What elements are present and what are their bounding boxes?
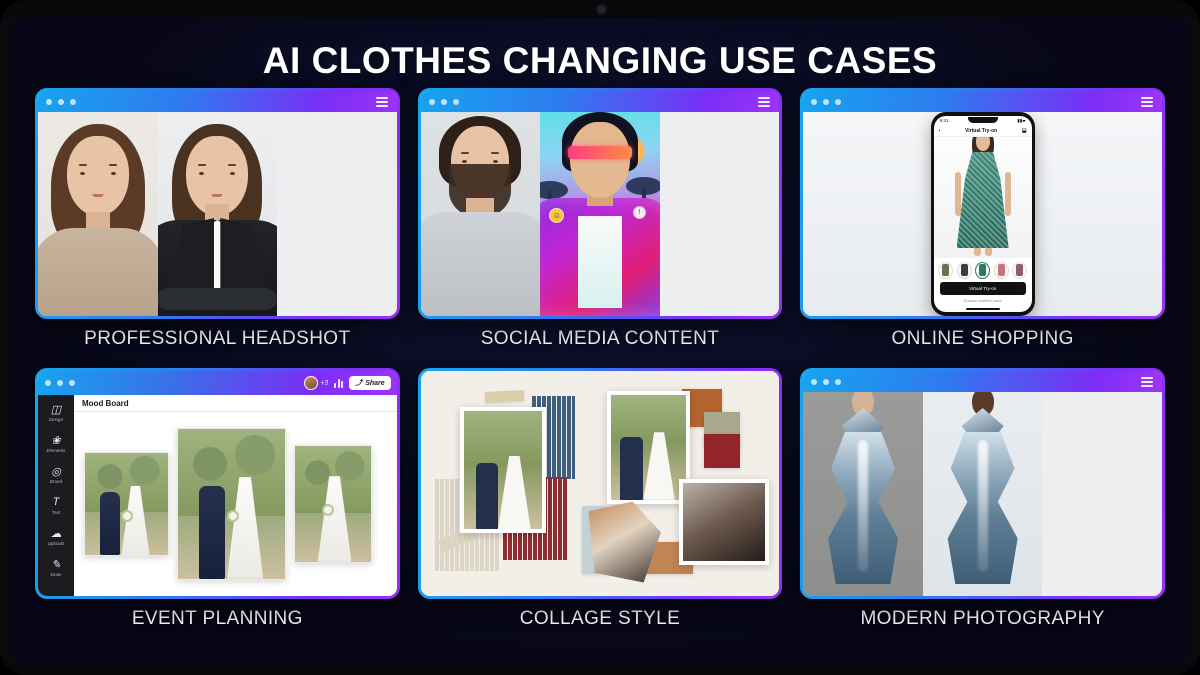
wedding-photo-1[interactable] xyxy=(84,452,169,556)
card-collage-style[interactable] xyxy=(418,368,783,599)
arm-right xyxy=(1005,172,1011,216)
model-wearing-dress xyxy=(955,137,1011,256)
arm-left xyxy=(955,172,961,216)
eye-left xyxy=(462,160,467,163)
status-icons: ▮▮▰ xyxy=(1017,118,1025,124)
card-social-media-content[interactable]: ☺ ! xyxy=(418,88,783,319)
swatch-selector-row[interactable] xyxy=(934,258,1032,282)
person-casual xyxy=(38,116,158,316)
wedding-photo-center[interactable] xyxy=(607,391,689,504)
brow-right xyxy=(228,164,236,166)
window-dot-maximize-icon[interactable] xyxy=(70,99,76,105)
panel-couture-left xyxy=(803,392,923,596)
window-dot-minimize-icon[interactable] xyxy=(58,99,64,105)
use-case-cell-online-shopping: 9:41 ▮▮▰ ‹ Virtual Try-on ⬓ xyxy=(800,88,1165,350)
app-bar: ‹ Virtual Try-on ⬓ xyxy=(934,125,1032,137)
card-modern-photography[interactable] xyxy=(800,368,1165,599)
dress-highlight xyxy=(858,440,868,572)
window-titlebar xyxy=(421,91,780,112)
sweater-shape xyxy=(38,228,158,316)
swatch-olive[interactable] xyxy=(938,262,953,279)
window-dots xyxy=(429,99,459,105)
before-after-split: ☺ ! xyxy=(421,112,780,316)
device-frame: AI CLOTHES CHANGING USE CASES xyxy=(0,0,1200,675)
cta-subtext: Choose another color xyxy=(934,298,1032,306)
screen: AI CLOTHES CHANGING USE CASES xyxy=(10,18,1190,665)
editor-sidebar: ◫ Design ❀ Elements ◎ Brand xyxy=(38,395,74,596)
sidebar-item-text[interactable]: T Text xyxy=(38,495,74,515)
crossed-arms-shape xyxy=(158,288,278,310)
green-patterned-dress xyxy=(957,152,1009,248)
use-case-grid: PROFESSIONAL HEADSHOT xyxy=(35,88,1165,648)
mouth xyxy=(212,194,223,197)
card-inner: 9:41 ▮▮▰ ‹ Virtual Try-on ⬓ xyxy=(803,91,1162,316)
wedding-photo-3[interactable] xyxy=(294,445,373,563)
window-dot-maximize-icon[interactable] xyxy=(835,379,841,385)
sidebar-item-label: Draw xyxy=(51,572,62,577)
card-online-shopping[interactable]: 9:41 ▮▮▰ ‹ Virtual Try-on ⬓ xyxy=(800,88,1165,319)
face-shape xyxy=(67,136,129,216)
sidebar-item-label: Uploads xyxy=(48,541,65,546)
card-body: 9:41 ▮▮▰ ‹ Virtual Try-on ⬓ xyxy=(803,112,1162,316)
photo-strip xyxy=(84,420,387,588)
brow-left xyxy=(198,164,206,166)
card-caption-professional-headshot: PROFESSIONAL HEADSHOT xyxy=(35,328,400,350)
use-case-cell-event-planning: +3 ⤴ Share xyxy=(35,368,400,630)
swatch-mauve[interactable] xyxy=(1012,262,1027,279)
sidebar-item-brand[interactable]: ◎ Brand xyxy=(38,464,74,484)
card-body xyxy=(803,392,1162,596)
card-caption-online-shopping: ONLINE SHOPPING xyxy=(800,328,1165,350)
share-button[interactable]: ⤴ Share xyxy=(349,376,390,390)
tape-piece-top xyxy=(485,390,525,403)
eye-right xyxy=(493,160,498,163)
sidebar-item-uploads[interactable]: ☁ Uploads xyxy=(38,526,74,546)
window-dot-minimize-icon[interactable] xyxy=(441,99,447,105)
phone-mockup: 9:41 ▮▮▰ ‹ Virtual Try-on ⬓ xyxy=(931,112,1035,316)
mouth xyxy=(92,194,103,197)
before-after-split xyxy=(803,392,1162,596)
window-dot-close-icon[interactable] xyxy=(811,99,817,105)
person-plain-tshirt xyxy=(421,112,541,316)
status-time: 9:41 xyxy=(940,118,949,123)
dress-highlight xyxy=(978,440,988,572)
card-inner xyxy=(38,91,397,316)
avatar-count: +3 xyxy=(320,380,328,387)
panel-before-casual-sweater xyxy=(38,112,158,316)
sidebar-item-elements[interactable]: ❀ Elements xyxy=(38,433,74,453)
moodboard-collage xyxy=(421,371,780,596)
wedding-photo-left[interactable] xyxy=(460,407,546,533)
elements-grid-icon: ❀ xyxy=(49,433,63,447)
fabric-drape-photo[interactable] xyxy=(582,502,661,583)
eye-right xyxy=(230,172,235,175)
fabric-swatch-burgundy xyxy=(704,434,740,468)
avatar[interactable] xyxy=(304,376,318,390)
card-body: ☺ ! xyxy=(421,112,780,316)
panel-before-plain-tshirt xyxy=(421,112,541,316)
panel-after-stylized-illustration: ☺ ! xyxy=(540,112,660,316)
hamburger-menu-icon[interactable] xyxy=(758,97,770,107)
wedding-photo-2[interactable] xyxy=(177,428,286,579)
shoes-photo[interactable] xyxy=(679,479,769,565)
eye-right xyxy=(111,172,116,175)
editor-titlebar: +3 ⤴ Share xyxy=(38,371,397,395)
device-bezel-bottom xyxy=(0,665,1200,675)
share-upload-icon: ⤴ xyxy=(355,378,362,388)
card-caption-collage-style: COLLAGE STYLE xyxy=(418,608,783,630)
window-dots xyxy=(811,379,841,385)
window-titlebar xyxy=(38,91,397,112)
swatch-green-selected[interactable] xyxy=(975,262,990,279)
document-title[interactable]: Mood Board xyxy=(74,395,397,412)
share-button-label: Share xyxy=(365,380,384,387)
editor-canvas[interactable] xyxy=(74,412,397,596)
draw-pen-icon: ✎ xyxy=(49,557,63,571)
sidebar-item-label: Text xyxy=(52,510,61,515)
sidebar-item-design[interactable]: ◫ Design xyxy=(38,402,74,422)
card-professional-headshot[interactable] xyxy=(35,88,400,319)
reaction-badge-pin[interactable]: ! xyxy=(633,206,646,219)
before-after-split xyxy=(38,112,397,316)
sidebar-item-label: Brand xyxy=(50,479,62,484)
window-dot-close-icon[interactable] xyxy=(429,99,435,105)
inner-tee-shape xyxy=(578,216,622,308)
sidebar-item-draw[interactable]: ✎ Draw xyxy=(38,557,74,577)
window-titlebar xyxy=(803,371,1162,392)
home-indicator xyxy=(934,306,1032,312)
use-case-cell-collage-style: COLLAGE STYLE xyxy=(418,368,783,630)
window-dot-minimize-icon[interactable] xyxy=(823,99,829,105)
phone-notch xyxy=(968,117,998,123)
model-metallic-dress-left xyxy=(817,392,909,596)
chevron-left-icon[interactable]: ‹ xyxy=(939,128,941,134)
analytics-icon[interactable] xyxy=(334,378,343,388)
sunglasses-icon xyxy=(568,146,632,159)
brand-circle-icon: ◎ xyxy=(49,464,63,478)
card-caption-event-planning: EVENT PLANNING xyxy=(35,608,400,630)
card-inner xyxy=(421,371,780,596)
eye-left xyxy=(80,172,85,175)
sidebar-item-label: Elements xyxy=(46,448,65,453)
window-dot-maximize-icon[interactable] xyxy=(835,99,841,105)
editor-body: ◫ Design ❀ Elements ◎ Brand xyxy=(38,395,397,596)
collaborator-avatars[interactable]: +3 xyxy=(304,376,328,390)
window-dots xyxy=(811,99,841,105)
window-dot-maximize-icon[interactable] xyxy=(69,380,75,386)
virtual-tryon-button[interactable]: Virtual Try-on xyxy=(940,282,1026,295)
app-bar-title: Virtual Try-on xyxy=(965,128,997,134)
card-body xyxy=(38,112,397,316)
card-inner: +3 ⤴ Share xyxy=(38,371,397,596)
swatch-rose[interactable] xyxy=(994,262,1009,279)
card-body xyxy=(421,371,780,596)
camera-dot-icon xyxy=(598,6,605,13)
use-case-cell-professional-headshot: PROFESSIONAL HEADSHOT xyxy=(35,88,400,350)
window-dot-close-icon[interactable] xyxy=(45,380,51,386)
hamburger-menu-icon[interactable] xyxy=(1141,377,1153,387)
card-caption-modern-photography: MODERN PHOTOGRAPHY xyxy=(800,608,1165,630)
hamburger-menu-icon[interactable] xyxy=(1141,97,1153,107)
window-dot-close-icon[interactable] xyxy=(46,99,52,105)
panel-couture-right xyxy=(923,392,1043,596)
card-inner: ☺ ! xyxy=(421,91,780,316)
page-title: AI CLOTHES CHANGING USE CASES xyxy=(10,40,1190,82)
window-dot-maximize-icon[interactable] xyxy=(453,99,459,105)
window-dot-minimize-icon[interactable] xyxy=(823,379,829,385)
window-dots xyxy=(46,99,76,105)
try-on-stage xyxy=(934,137,1032,258)
window-titlebar xyxy=(803,91,1162,112)
tshirt-shape xyxy=(421,212,541,316)
card-caption-social-media-content: SOCIAL MEDIA CONTENT xyxy=(418,328,783,350)
window-dot-minimize-icon[interactable] xyxy=(57,380,63,386)
design-panel-icon: ◫ xyxy=(49,402,63,416)
brow-right xyxy=(109,164,117,166)
shopping-bag-icon[interactable]: ⬓ xyxy=(1022,128,1027,134)
phone-screen: 9:41 ▮▮▰ ‹ Virtual Try-on ⬓ xyxy=(934,116,1032,312)
swatch-charcoal[interactable] xyxy=(957,262,972,279)
eye-left xyxy=(199,172,204,175)
upload-cloud-icon: ☁ xyxy=(49,526,63,540)
editor-canvas-area: Mood Board xyxy=(74,395,397,596)
use-case-cell-modern-photography: MODERN PHOTOGRAPHY xyxy=(800,368,1165,630)
hamburger-menu-icon[interactable] xyxy=(376,97,388,107)
reaction-badge-emoji[interactable]: ☺ xyxy=(549,208,564,223)
use-case-cell-social-media-content: ☺ ! SOCIAL MEDIA CONTENT xyxy=(418,88,783,350)
brow-right xyxy=(491,152,499,154)
window-dots xyxy=(45,380,75,386)
face-shape xyxy=(570,122,630,198)
text-icon: T xyxy=(49,495,63,509)
card-event-planning[interactable]: +3 ⤴ Share xyxy=(35,368,400,599)
brow-left xyxy=(461,152,469,154)
window-dot-close-icon[interactable] xyxy=(811,379,817,385)
editor-toolbar-right: +3 ⤴ Share xyxy=(304,376,390,390)
panel-after-business-suit xyxy=(158,112,278,316)
brow-left xyxy=(79,164,87,166)
person-suited xyxy=(158,116,278,316)
model-metallic-dress-right xyxy=(937,392,1029,596)
sidebar-item-label: Design xyxy=(49,417,63,422)
card-inner xyxy=(803,371,1162,596)
